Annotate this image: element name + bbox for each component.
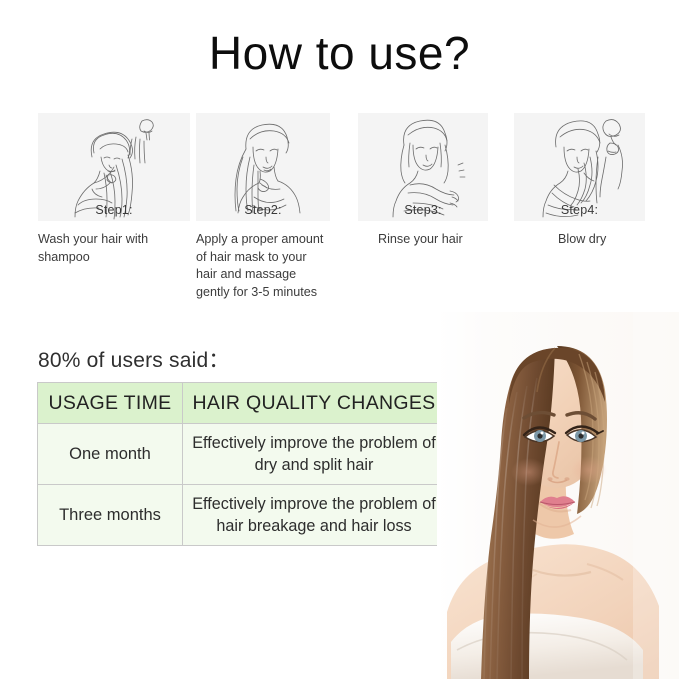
step-1-caption: Wash your hair with shampoo: [38, 231, 188, 266]
table-row: Three months Effectively improve the pro…: [38, 485, 446, 546]
step-3-image-box: Step3:: [358, 113, 488, 221]
step-2: Step2: Apply a proper amount of hair mas…: [196, 113, 330, 221]
step-1: Step1: Wash your hair with shampoo: [38, 113, 190, 221]
table-header-row: USAGE TIME HAIR QUALITY CHANGES: [38, 383, 446, 424]
hair-quality-table: USAGE TIME HAIR QUALITY CHANGES One mont…: [37, 382, 446, 546]
model-photo: [437, 312, 679, 679]
cell-change-one-month: Effectively improve the problem of dry a…: [183, 424, 446, 485]
column-header-usage-time: USAGE TIME: [38, 383, 183, 424]
cell-usage-time-three-months: Three months: [38, 485, 183, 546]
step-4-caption: Blow dry: [558, 231, 678, 249]
step-1-image-box: Step1:: [38, 113, 190, 221]
users-said-heading: 80% of users said：: [38, 344, 230, 374]
step-4: Step4: Blow dry: [514, 113, 645, 221]
page-title: How to use?: [0, 26, 679, 80]
step-4-image-box: Step4:: [514, 113, 645, 221]
step-3-caption: Rinse your hair: [378, 231, 508, 249]
step-4-label: Step4:: [514, 203, 645, 217]
step-3-label: Step3:: [358, 203, 488, 217]
table-row: One month Effectively improve the proble…: [38, 424, 446, 485]
cell-change-three-months: Effectively improve the problem of hair …: [183, 485, 446, 546]
step-1-label: Step1:: [38, 203, 190, 217]
cell-usage-time-one-month: One month: [38, 424, 183, 485]
step-2-image-box: Step2:: [196, 113, 330, 221]
step-2-caption: Apply a proper amount of hair mask to yo…: [196, 231, 326, 301]
woman-with-long-straight-hair-photo: [437, 312, 679, 679]
column-header-hair-quality-changes: HAIR QUALITY CHANGES: [183, 383, 446, 424]
table-body: One month Effectively improve the proble…: [38, 424, 446, 546]
step-3: Step3: Rinse your hair: [358, 113, 488, 221]
table-head: USAGE TIME HAIR QUALITY CHANGES: [38, 383, 446, 424]
steps-section: Step1: Wash your hair with shampoo: [0, 113, 679, 313]
step-2-label: Step2:: [196, 203, 330, 217]
